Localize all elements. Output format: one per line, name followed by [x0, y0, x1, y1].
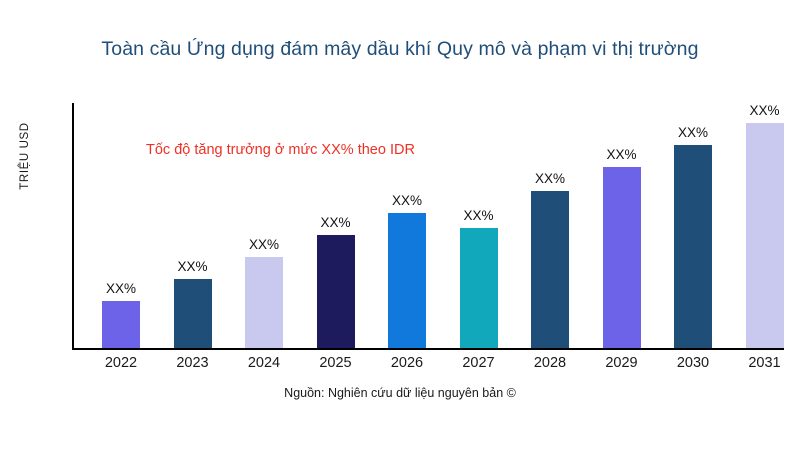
plot-area: XX%XX%XX%XX%XX%XX%XX%XX%XX%XX% [72, 103, 784, 350]
bar-value-label: XX% [656, 125, 730, 140]
x-axis-tick-2028: 2028 [513, 355, 587, 371]
x-axis-tick-2027: 2027 [442, 355, 516, 371]
chart-title: Toàn cầu Ứng dụng đám mây dầu khí Quy mô… [0, 38, 800, 61]
bar[interactable] [746, 123, 784, 348]
bar-value-label: XX% [370, 193, 444, 208]
growth-rate-annotation: Tốc độ tăng trưởng ở mức XX% theo IDR [146, 142, 415, 158]
x-axis-tick-2029: 2029 [585, 355, 659, 371]
chart-figure: Toàn cầu Ứng dụng đám mây dầu khí Quy mô… [0, 0, 800, 450]
bar-value-label: XX% [84, 281, 158, 296]
y-axis-label: TRIỆU USD [19, 96, 31, 216]
x-axis-tick-2023: 2023 [156, 355, 230, 371]
bar-value-label: XX% [728, 103, 800, 118]
x-axis-tick-2026: 2026 [370, 355, 444, 371]
bar-value-label: XX% [442, 208, 516, 223]
bar-group[interactable] [585, 167, 659, 348]
bar-group[interactable] [227, 257, 301, 348]
x-axis-tick-2030: 2030 [656, 355, 730, 371]
bar[interactable] [603, 167, 641, 348]
x-axis-tick-2025: 2025 [299, 355, 373, 371]
bar-series: XX%XX%XX%XX%XX%XX%XX%XX%XX%XX% [72, 103, 784, 350]
bar-value-label: XX% [299, 215, 373, 230]
bar[interactable] [102, 301, 140, 348]
source-caption: Nguồn: Nghiên cứu dữ liệu nguyên bản © [0, 386, 800, 400]
bar[interactable] [317, 235, 355, 348]
bar-group[interactable] [656, 145, 730, 348]
bar-group[interactable] [370, 213, 444, 348]
bar-value-label: XX% [227, 237, 301, 252]
x-axis-tick-2022: 2022 [84, 355, 158, 371]
bar[interactable] [245, 257, 283, 348]
x-axis-tick-2031: 2031 [728, 355, 800, 371]
bar-group[interactable] [442, 228, 516, 348]
bar-value-label: XX% [585, 147, 659, 162]
bar[interactable] [460, 228, 498, 348]
bar-group[interactable] [513, 191, 587, 348]
bar-group[interactable] [728, 123, 800, 348]
bar-group[interactable] [156, 279, 230, 348]
x-axis-tick-2024: 2024 [227, 355, 301, 371]
bar-value-label: XX% [156, 259, 230, 274]
bar-group[interactable] [84, 301, 158, 348]
bar[interactable] [388, 213, 426, 348]
bar-group[interactable] [299, 235, 373, 348]
bar[interactable] [674, 145, 712, 348]
bar[interactable] [174, 279, 212, 348]
bar-value-label: XX% [513, 171, 587, 186]
bar[interactable] [531, 191, 569, 348]
